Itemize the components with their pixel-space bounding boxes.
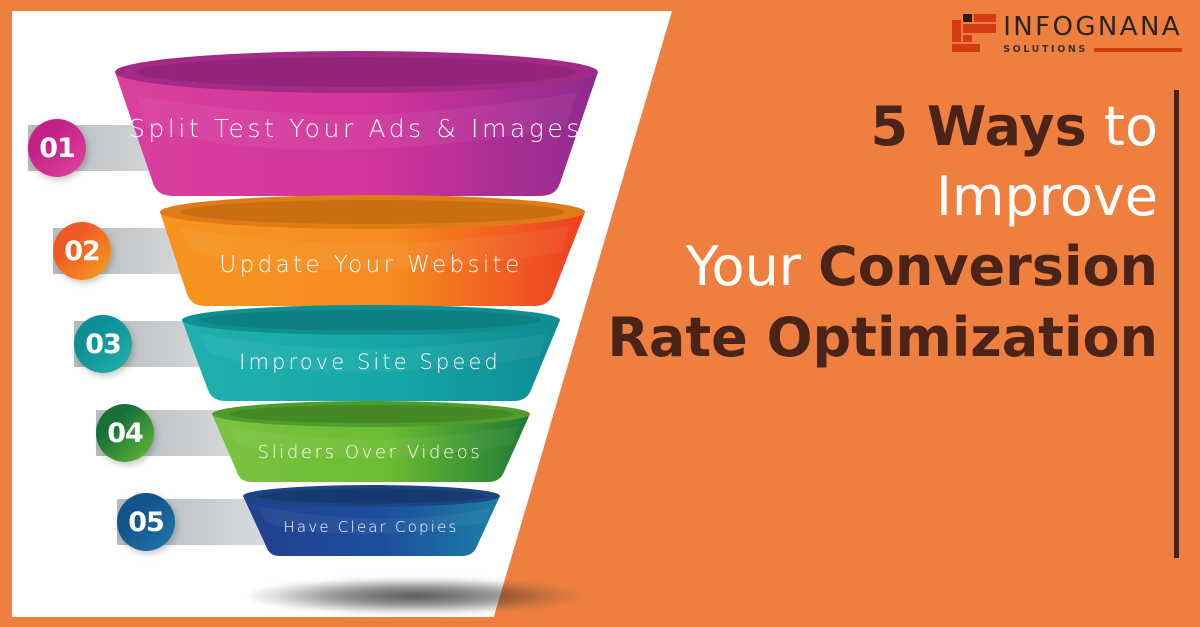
brand-tagline: SOLUTIONS bbox=[1003, 44, 1088, 55]
brand-rule bbox=[1094, 48, 1182, 52]
headline-line-2: Improve bbox=[538, 162, 1158, 232]
headline-line-1-emphasis: 5 Ways bbox=[870, 95, 1086, 158]
funnel-layer-03[interactable] bbox=[182, 305, 560, 401]
headline-line-3-plain: Your bbox=[686, 235, 801, 298]
funnel-layer-04[interactable] bbox=[212, 401, 530, 482]
headline-line-2-plain: Improve bbox=[936, 165, 1158, 228]
brand-name: INFOGNANA bbox=[1003, 14, 1182, 40]
headline-line-4: Rate Optimization bbox=[538, 303, 1158, 373]
headline-line-3: Your Conversion bbox=[538, 232, 1158, 302]
headline-line-1-plain: to bbox=[1104, 95, 1158, 158]
headline-line-1: 5 Ways to bbox=[538, 92, 1158, 162]
headline-line-3-emphasis: Conversion bbox=[818, 235, 1158, 298]
brand-tagline-row: SOLUTIONS bbox=[1003, 44, 1182, 55]
funnel-layer-01[interactable] bbox=[115, 51, 598, 196]
infognana-mark-icon bbox=[952, 14, 996, 56]
brand-logo[interactable]: INFOGNANA SOLUTIONS bbox=[952, 14, 1182, 60]
infographic-canvas: 01 02 03 04 05 bbox=[0, 0, 1200, 627]
headline-line-4-emphasis: Rate Optimization bbox=[607, 306, 1158, 369]
funnel-layer-05[interactable] bbox=[243, 485, 500, 556]
headline: 5 Ways to Improve Your Conversion Rate O… bbox=[538, 92, 1158, 373]
headline-vertical-rule bbox=[1174, 90, 1179, 558]
funnel-layer-02[interactable] bbox=[160, 195, 585, 306]
